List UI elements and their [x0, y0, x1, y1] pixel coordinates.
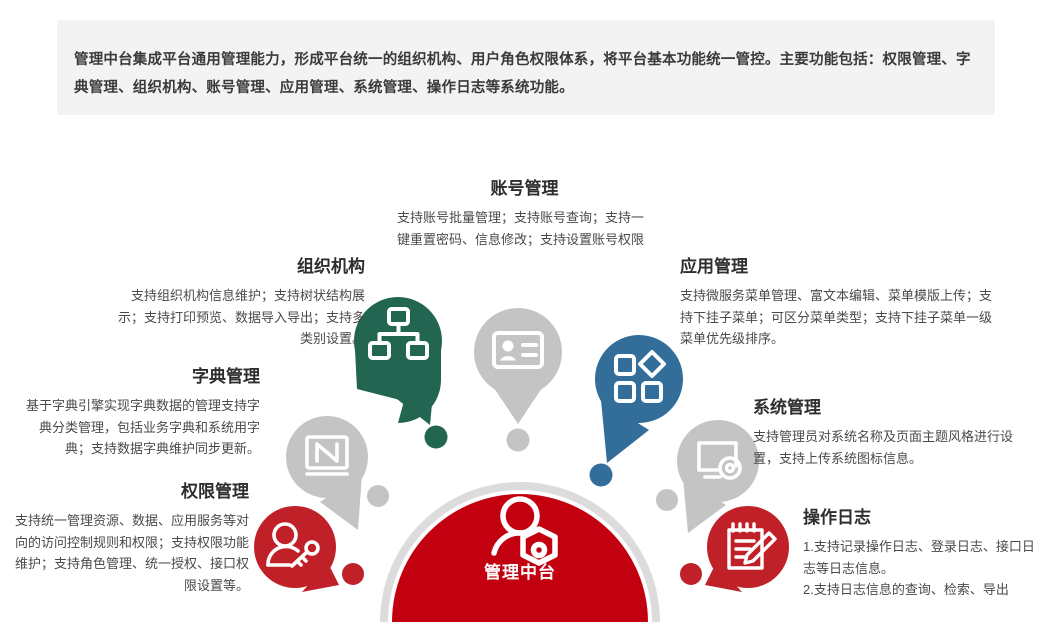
node-text-org: 组织机构 支持组织机构信息维护；支持树状结构展示；支持打印预览、数据导入导出；支… — [110, 256, 365, 350]
node-body-org: 支持组织机构信息维护；支持树状结构展示；支持打印预览、数据导入导出；支持多类别设… — [110, 285, 365, 350]
pin-app — [590, 335, 684, 487]
infographic-page: 管理中台集成平台通用管理能力，形成平台统一的组织机构、用户角色权限体系，将平台基… — [0, 0, 1051, 636]
node-body-auth: 支持统一管理资源、数据、应用服务等对向的访问控制规则和权限；支持权限功能维护；支… — [14, 510, 249, 596]
node-text-dict: 字典管理 基于字典引擎实现字典数据的管理支持字典分类管理，包括业务字典和系统用字… — [16, 366, 260, 460]
node-text-auth: 权限管理 支持统一管理资源、数据、应用服务等对向的访问控制规则和权限；支持权限功… — [14, 481, 249, 596]
node-text-app: 应用管理 支持微服务菜单管理、富文本编辑、菜单模版上传；支持下挂子菜单；可区分菜… — [680, 256, 1000, 350]
center-label: 管理中台 — [417, 558, 623, 583]
pin-org-dot — [425, 426, 448, 449]
node-title-log: 操作日志 — [803, 507, 1039, 529]
node-title-dict: 字典管理 — [16, 366, 260, 388]
node-text-account: 账号管理 支持账号批量管理；支持账号查询；支持一键重置密码、信息修改；支持设置账… — [397, 178, 652, 250]
node-body-system: 支持管理员对系统名称及页面主题风格进行设置，支持上传系统图标信息。 — [753, 426, 1028, 469]
pin-account-dot — [507, 429, 530, 452]
pin-account — [474, 308, 562, 452]
node-body-dict: 基于字典引擎实现字典数据的管理支持字典分类管理，包括业务字典和系统用字典；支持数… — [16, 395, 260, 460]
pin-org — [354, 297, 448, 449]
node-title-auth: 权限管理 — [14, 481, 249, 503]
node-title-system: 系统管理 — [753, 397, 1028, 419]
node-title-account: 账号管理 — [397, 178, 652, 200]
node-text-system: 系统管理 支持管理员对系统名称及页面主题风格进行设置，支持上传系统图标信息。 — [753, 397, 1028, 469]
pin-dict-dot — [367, 485, 389, 507]
node-body-app: 支持微服务菜单管理、富文本编辑、菜单模版上传；支持下挂子菜单；可区分菜单类型；支… — [680, 285, 1000, 350]
pin-auth-dot — [342, 563, 364, 585]
pin-log-dot — [680, 563, 702, 585]
node-title-app: 应用管理 — [680, 256, 1000, 278]
node-body-log: 1.支持记录操作日志、登录日志、接口日志等日志信息。 2.支持日志信息的查询、检… — [803, 536, 1039, 601]
pin-app-dot — [590, 464, 613, 487]
node-title-org: 组织机构 — [110, 256, 365, 278]
pin-system-dot — [656, 489, 678, 511]
node-text-log: 操作日志 1.支持记录操作日志、登录日志、接口日志等日志信息。 2.支持日志信息… — [803, 507, 1039, 601]
node-body-account: 支持账号批量管理；支持账号查询；支持一键重置密码、信息修改；支持设置账号权限 — [397, 207, 652, 250]
